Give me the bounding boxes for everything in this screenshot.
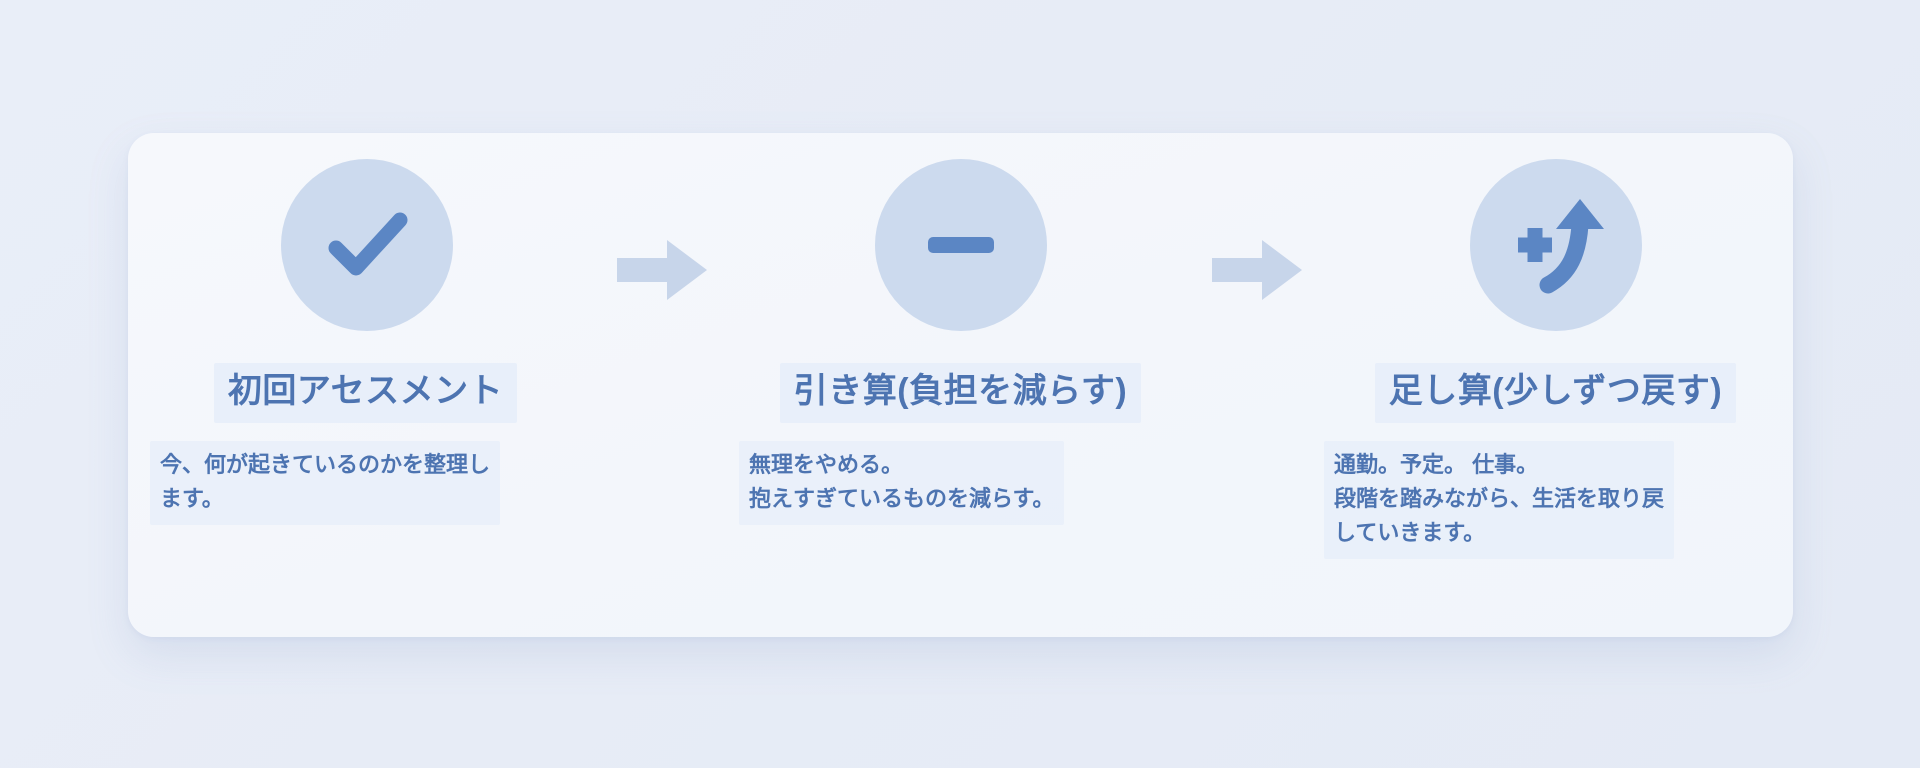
- check-circle-icon: [281, 159, 453, 331]
- arrow-right-icon: [617, 238, 709, 302]
- connector-2: [1198, 133, 1318, 302]
- process-step-2: 引き算(負担を減らす) 無理をやめる。 抱えすぎているものを減らす。: [723, 133, 1198, 525]
- step-3-description-container: 通勤。予定。 仕事。 段階を踏みながら、生活を取り戻 していきます。: [1318, 441, 1793, 559]
- step-2-description-container: 無理をやめる。 抱えすぎているものを減らす。: [723, 441, 1198, 525]
- step-3-title: 足し算(少しずつ戻す): [1375, 363, 1736, 423]
- step-3-title-container: 足し算(少しずつ戻す): [1318, 363, 1793, 423]
- step-1-description-line-2: ます。: [160, 482, 490, 516]
- process-panel: 初回アセスメント 今、何が起きているのかを整理し ます。: [128, 133, 1793, 637]
- process-steps-row: 初回アセスメント 今、何が起きているのかを整理し ます。: [128, 133, 1793, 637]
- step-1-title-container: 初回アセスメント: [128, 363, 603, 423]
- process-step-3: 足し算(少しずつ戻す) 通勤。予定。 仕事。 段階を踏みながら、生活を取り戻 し…: [1318, 133, 1793, 559]
- step-3-description-line-1: 通勤。予定。 仕事。: [1334, 448, 1664, 482]
- step-1-description-container: 今、何が起きているのかを整理し ます。: [128, 441, 603, 525]
- step-3-description: 通勤。予定。 仕事。 段階を踏みながら、生活を取り戻 していきます。: [1324, 441, 1674, 559]
- step-1-description-line-1: 今、何が起きているのかを整理し: [160, 448, 490, 482]
- process-step-1: 初回アセスメント 今、何が起きているのかを整理し ます。: [128, 133, 603, 525]
- arrow-right-icon: [1212, 238, 1304, 302]
- minus-circle-icon: [875, 159, 1047, 331]
- connector-1: [603, 133, 723, 302]
- step-3-description-line-2: 段階を踏みながら、生活を取り戻: [1334, 482, 1664, 516]
- step-1-description: 今、何が起きているのかを整理し ます。: [150, 441, 500, 525]
- step-3-description-line-3: していきます。: [1334, 516, 1664, 550]
- step-2-description-line-2: 抱えすぎているものを減らす。: [749, 482, 1054, 516]
- step-1-title: 初回アセスメント: [214, 363, 517, 423]
- step-2-title: 引き算(負担を減らす): [780, 363, 1141, 423]
- step-2-title-container: 引き算(負担を減らす): [723, 363, 1198, 423]
- plus-rising-arrow-circle-icon: [1470, 159, 1642, 331]
- step-2-description: 無理をやめる。 抱えすぎているものを減らす。: [739, 441, 1064, 525]
- step-2-description-line-1: 無理をやめる。: [749, 448, 1054, 482]
